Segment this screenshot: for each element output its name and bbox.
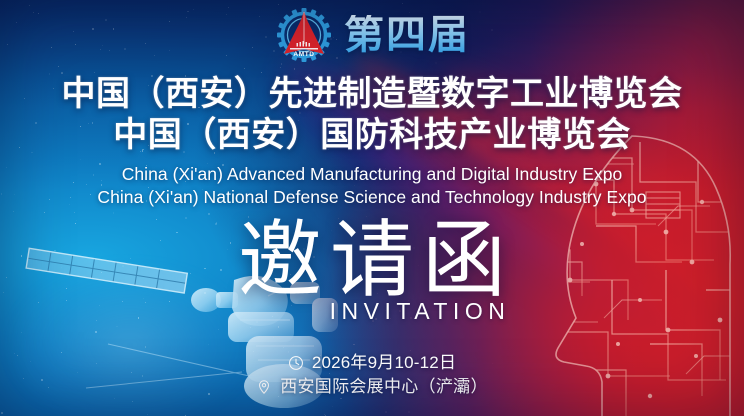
- location-pin-icon: [256, 379, 272, 395]
- title-cn-line2: 中国（西安）国防科技产业博览会: [0, 115, 744, 156]
- svg-text:AMTD: AMTD: [293, 51, 314, 58]
- poster-content: AMTD 第四届 中国（西安）先进制造暨数字工业博览会 中国（西安）国防科技产业…: [0, 0, 744, 416]
- title-en-line2: China (Xi'an) National Defense Science a…: [0, 186, 744, 209]
- event-info-block: 2026年9月10-12日 西安国际会展中心（浐灞）: [0, 354, 744, 396]
- event-venue-row: 西安国际会展中心（浐灞）: [256, 378, 488, 397]
- event-venue-text: 西安国际会展中心（浐灞）: [280, 378, 488, 397]
- title-en-line1: China (Xi'an) Advanced Manufacturing and…: [0, 163, 744, 186]
- title-cn-line1: 中国（西安）先进制造暨数字工业博览会: [0, 74, 744, 115]
- event-date-row: 2026年9月10-12日: [288, 354, 456, 373]
- invitation-cn-text: 邀请函: [0, 218, 744, 302]
- invitation-en-text: INVITATION: [0, 300, 744, 323]
- invitation-poster: AMTD 第四届 中国（西安）先进制造暨数字工业博览会 中国（西安）国防科技产业…: [0, 0, 744, 416]
- event-date-text: 2026年9月10-12日: [312, 354, 456, 373]
- title-block: 中国（西安）先进制造暨数字工业博览会 中国（西安）国防科技产业博览会 China…: [0, 74, 744, 209]
- header-logo-row: AMTD 第四届: [0, 6, 744, 64]
- invitation-block: 邀请函 INVITATION: [0, 218, 744, 323]
- clock-icon: [288, 355, 304, 371]
- amtd-pagoda-gear-logo-icon: AMTD: [274, 6, 334, 64]
- edition-label: 第四届: [344, 15, 470, 55]
